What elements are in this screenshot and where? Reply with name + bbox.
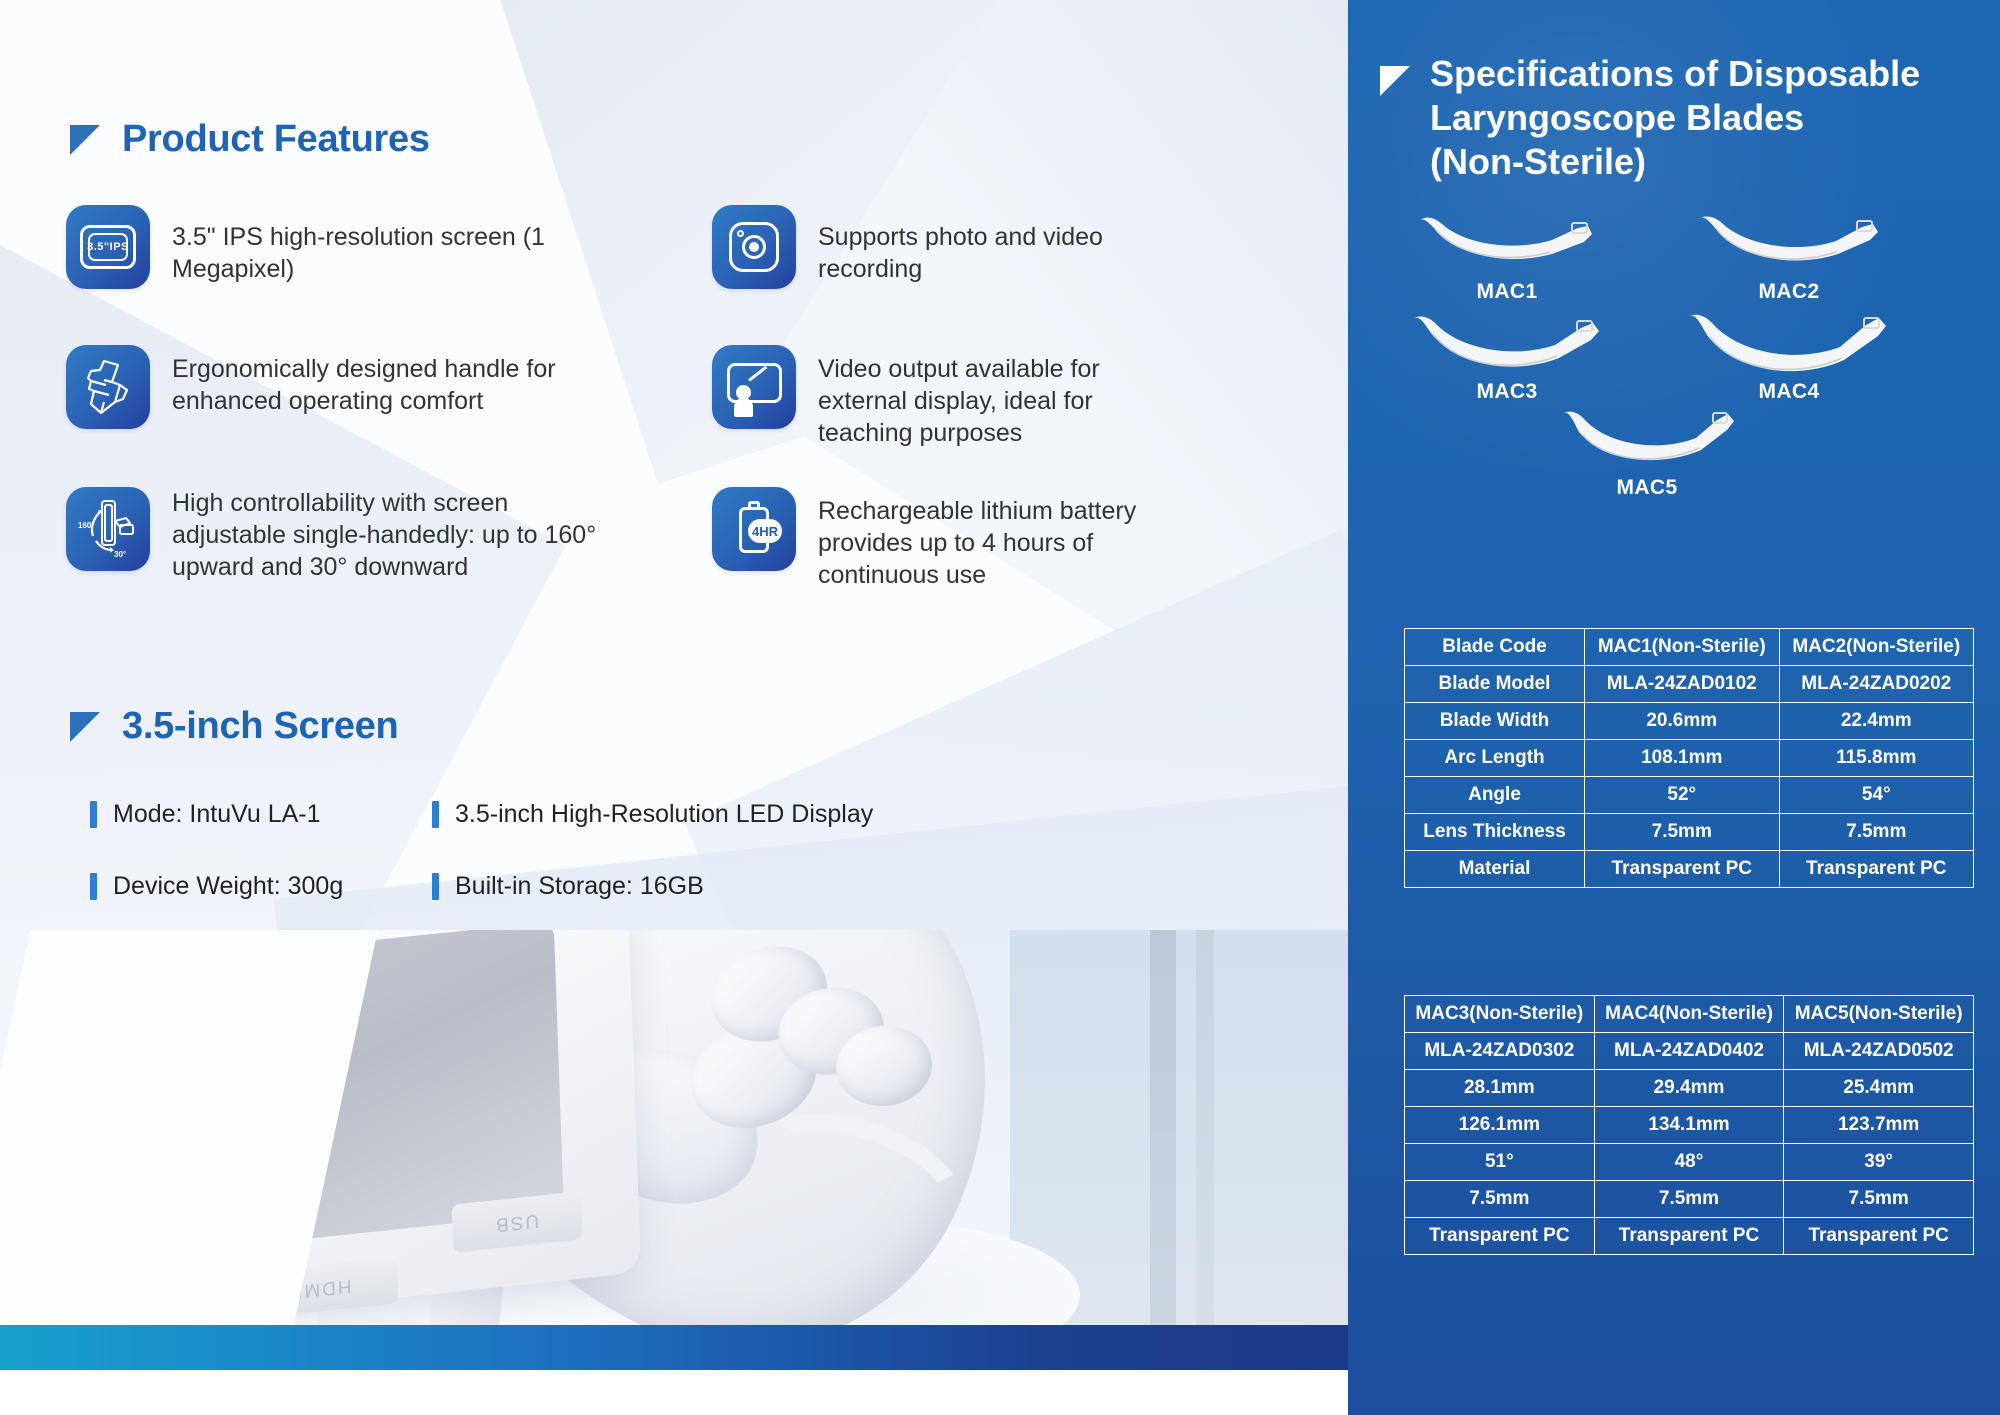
feature-text: Rechargeable lithium battery provides up… [818,487,1182,591]
cell-value: 54° [1779,777,1974,814]
row-label: Blade Code [1405,629,1585,666]
screen-ips-icon-label: 3.5"IPS [83,241,133,253]
blade-label: MAC2 [1674,280,1904,304]
blade-curve-shape [1684,312,1894,382]
cell-value: 7.5mm [1779,814,1974,851]
whiteboard-shape [727,363,782,403]
spec-table-mac1-mac2: Blade Code MAC1(Non-Sterile) MAC2(Non-St… [1404,628,1974,888]
screen-section-heading: 3.5-inch Screen [70,705,398,748]
left-content-panel: Product Features 3.5"IPS 3.5" IPS high-r… [0,0,1348,1370]
camera-flash-dot [737,230,744,237]
cell-value: 39° [1784,1144,1974,1181]
table-row: Arc Length 108.1mm 115.8mm [1405,740,1974,777]
cell-value: 108.1mm [1585,740,1780,777]
blade-image [1392,312,1622,376]
section-title-text: Product Features [122,118,430,161]
cell-value: 134.1mm [1594,1107,1784,1144]
row-label: Material [1405,851,1585,888]
hand-grip-shape [82,358,134,416]
table-row: Blade Model MLA-24ZAD0102 MLA-24ZAD0202 [1405,666,1974,703]
section-title-text: 3.5-inch Screen [122,705,398,748]
battery-hours-badge: 4HR [748,519,782,543]
feature-ips-screen: 3.5"IPS 3.5" IPS high-resolution screen … [66,205,566,289]
spec-item-display: 3.5-inch High-Resolution LED Display [432,800,873,829]
feature-text: High controllability with screen adjusta… [172,487,626,583]
panel-title-line-3: (Non-Sterile) [1430,140,1920,184]
table-row: 51° 48° 39° [1405,1144,1974,1181]
blade-item-mac3: MAC3 [1392,312,1622,404]
feature-photo-video: Supports photo and video recording [712,205,1182,289]
bullet-bar-icon [432,801,439,828]
feature-text: Supports photo and video recording [818,205,1182,285]
screen-angle-icon: 160° 30° [66,487,150,571]
feature-ergonomic-handle: Ergonomically designed handle for enhanc… [66,345,606,429]
row-label: Angle [1405,777,1585,814]
teaching-display-icon [712,345,796,429]
cell-value: MAC4(Non-Sterile) [1594,996,1784,1033]
table-row: Angle 52° 54° [1405,777,1974,814]
blade-item-mac4: MAC4 [1674,312,1904,404]
spec-label-text: Device Weight: 300g [113,872,343,901]
blade-image [1674,212,1904,276]
spec-item-mode: Mode: IntuVu LA-1 [90,800,321,829]
blade-image [1392,212,1622,276]
camera-lens-shape [742,235,766,259]
blade-item-mac5: MAC5 [1532,408,1762,500]
row-label: Lens Thickness [1405,814,1585,851]
cell-value: Transparent PC [1585,851,1780,888]
spec-table-mac3-mac5: MAC3(Non-Sterile) MAC4(Non-Sterile) MAC5… [1404,995,1974,1255]
spec-label-text: 3.5-inch High-Resolution LED Display [455,800,873,829]
blade-item-mac2: MAC2 [1674,212,1904,304]
feature-screen-angle: 160° 30° High controllability with scree… [66,487,626,583]
cell-value: 7.5mm [1405,1181,1595,1218]
blade-curve-shape [1407,312,1607,378]
panel-title-block: Specifications of Disposable Laryngoscop… [1430,52,1920,184]
feature-battery: 4HR Rechargeable lithium battery provide… [712,487,1182,591]
feature-video-output: Video output available for external disp… [712,345,1182,449]
photo-background-strip-2 [1196,930,1214,1370]
spec-label-text: Built-in Storage: 16GB [455,872,704,901]
cell-value: MAC1(Non-Sterile) [1585,629,1780,666]
person-body-shape [734,398,753,417]
cell-value: Transparent PC [1784,1218,1974,1255]
cell-value: 7.5mm [1585,814,1780,851]
cell-value: 48° [1594,1144,1784,1181]
cell-value: 7.5mm [1784,1181,1974,1218]
cell-value: 52° [1585,777,1780,814]
cell-value: 7.5mm [1594,1181,1784,1218]
cell-value: 20.6mm [1585,703,1780,740]
cell-value: Transparent PC [1405,1218,1595,1255]
camera-icon [712,205,796,289]
usb-port-text: USB [494,1209,540,1236]
bullet-bar-icon [90,801,97,828]
cell-value: 51° [1405,1144,1595,1181]
angle-adjust-shape: 160° 30° [76,497,140,561]
svg-text:30°: 30° [114,550,126,559]
table-row: Lens Thickness 7.5mm 7.5mm [1405,814,1974,851]
table-row: Blade Code MAC1(Non-Sterile) MAC2(Non-St… [1405,629,1974,666]
blade-gallery: MAC1 MAC2 [1374,212,1974,472]
product-photo: USB HDMI [0,930,1348,1370]
table-row: Material Transparent PC Transparent PC [1405,851,1974,888]
cell-value: MLA-24ZAD0402 [1594,1033,1784,1070]
blade-label: MAC3 [1392,380,1622,404]
panel-title: Specifications of Disposable Laryngoscop… [1380,52,1978,184]
blade-item-mac1: MAC1 [1392,212,1622,304]
blade-curve-shape [1412,212,1602,274]
blade-image [1674,312,1904,376]
panel-title-line-1: Specifications of Disposable [1430,52,1920,96]
cell-value: 115.8mm [1779,740,1974,777]
blade-label: MAC4 [1674,380,1904,404]
cell-value: Transparent PC [1779,851,1974,888]
blade-curve-shape [1692,212,1887,274]
cell-value: 28.1mm [1405,1070,1595,1107]
table-row: MLA-24ZAD0302 MLA-24ZAD0402 MLA-24ZAD050… [1405,1033,1974,1070]
cell-value: MLA-24ZAD0302 [1405,1033,1595,1070]
blade-curve-shape [1555,408,1740,468]
specifications-panel: Specifications of Disposable Laryngoscop… [1348,0,2000,1415]
table-row: MAC3(Non-Sterile) MAC4(Non-Sterile) MAC5… [1405,996,1974,1033]
screen-ips-icon: 3.5"IPS [66,205,150,289]
table-row: 7.5mm 7.5mm 7.5mm [1405,1181,1974,1218]
product-features-heading: Product Features [70,118,430,161]
spec-item-weight: Device Weight: 300g [90,872,343,901]
triangle-marker-icon [70,125,100,155]
row-label: Blade Model [1405,666,1585,703]
blade-label: MAC5 [1532,476,1762,500]
bullet-bar-icon [432,873,439,900]
panel-title-line-2: Laryngoscope Blades [1430,96,1920,140]
triangle-marker-icon [70,712,100,742]
battery-4hr-icon: 4HR [712,487,796,571]
product-spec-sheet: Product Features 3.5"IPS 3.5" IPS high-r… [0,0,2000,1415]
cell-value: MAC2(Non-Sterile) [1779,629,1974,666]
bullet-bar-icon [90,873,97,900]
spec-item-storage: Built-in Storage: 16GB [432,872,704,901]
table-row: 28.1mm 29.4mm 25.4mm [1405,1070,1974,1107]
photo-background-strip-1 [1150,930,1176,1370]
cell-value: 123.7mm [1784,1107,1974,1144]
cell-value: MAC3(Non-Sterile) [1405,996,1595,1033]
cell-value: MLA-24ZAD0202 [1779,666,1974,703]
cell-value: Transparent PC [1594,1218,1784,1255]
bottom-accent-bar [0,1325,1348,1370]
table-row: Blade Width 20.6mm 22.4mm [1405,703,1974,740]
cell-value: 29.4mm [1594,1070,1784,1107]
cell-value: MLA-24ZAD0102 [1585,666,1780,703]
triangle-marker-icon [1380,66,1410,96]
cell-value: MLA-24ZAD0502 [1784,1033,1974,1070]
feature-text: 3.5" IPS high-resolution screen (1 Megap… [172,205,566,285]
cell-value: 126.1mm [1405,1107,1595,1144]
cell-value: MAC5(Non-Sterile) [1784,996,1974,1033]
blade-label: MAC1 [1392,280,1622,304]
cell-value: 25.4mm [1784,1070,1974,1107]
table-row: Transparent PC Transparent PC Transparen… [1405,1218,1974,1255]
svg-text:160°: 160° [78,521,95,530]
spec-label-text: Mode: IntuVu LA-1 [113,800,321,829]
row-label: Arc Length [1405,740,1585,777]
blade-image [1532,408,1762,472]
hand-grip-icon [66,345,150,429]
table-row: 126.1mm 134.1mm 123.7mm [1405,1107,1974,1144]
cell-value: 22.4mm [1779,703,1974,740]
feature-text: Video output available for external disp… [818,345,1182,449]
feature-text: Ergonomically designed handle for enhanc… [172,345,606,417]
screen-frame-shape: 3.5"IPS [80,225,136,269]
row-label: Blade Width [1405,703,1585,740]
